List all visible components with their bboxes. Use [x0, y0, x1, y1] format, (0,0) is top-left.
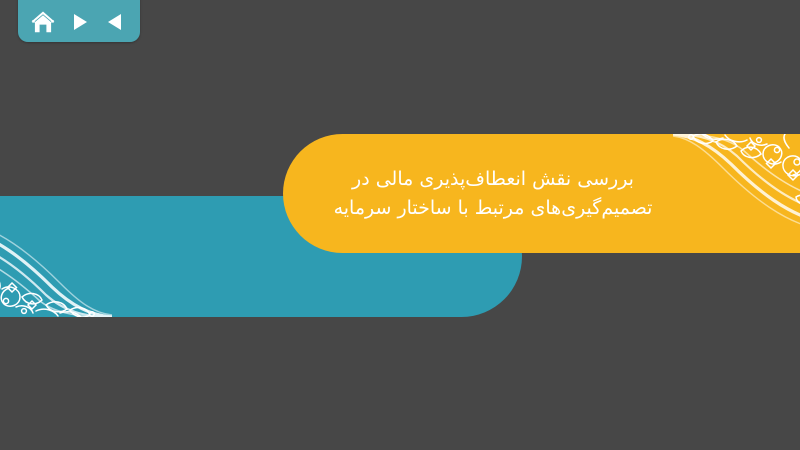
forward-button[interactable] — [65, 9, 93, 35]
triangle-left-icon — [107, 13, 124, 31]
slide-canvas: بررسی نقش انعطاف‌پذیری مالی در تصمیم‌گیر… — [0, 0, 800, 450]
back-button[interactable] — [101, 9, 129, 35]
slide-title: بررسی نقش انعطاف‌پذیری مالی در تصمیم‌گیر… — [283, 134, 800, 253]
title-line-1: بررسی نقش انعطاف‌پذیری مالی در — [352, 165, 634, 194]
home-icon — [31, 11, 55, 33]
navigation-bar — [18, 0, 140, 42]
home-button[interactable] — [29, 9, 57, 35]
arabesque-corner-ornament-teal — [0, 211, 112, 317]
title-line-2: تصمیم‌گیری‌های مرتبط با ساختار سرمایه — [334, 194, 653, 223]
triangle-right-icon — [71, 13, 88, 31]
